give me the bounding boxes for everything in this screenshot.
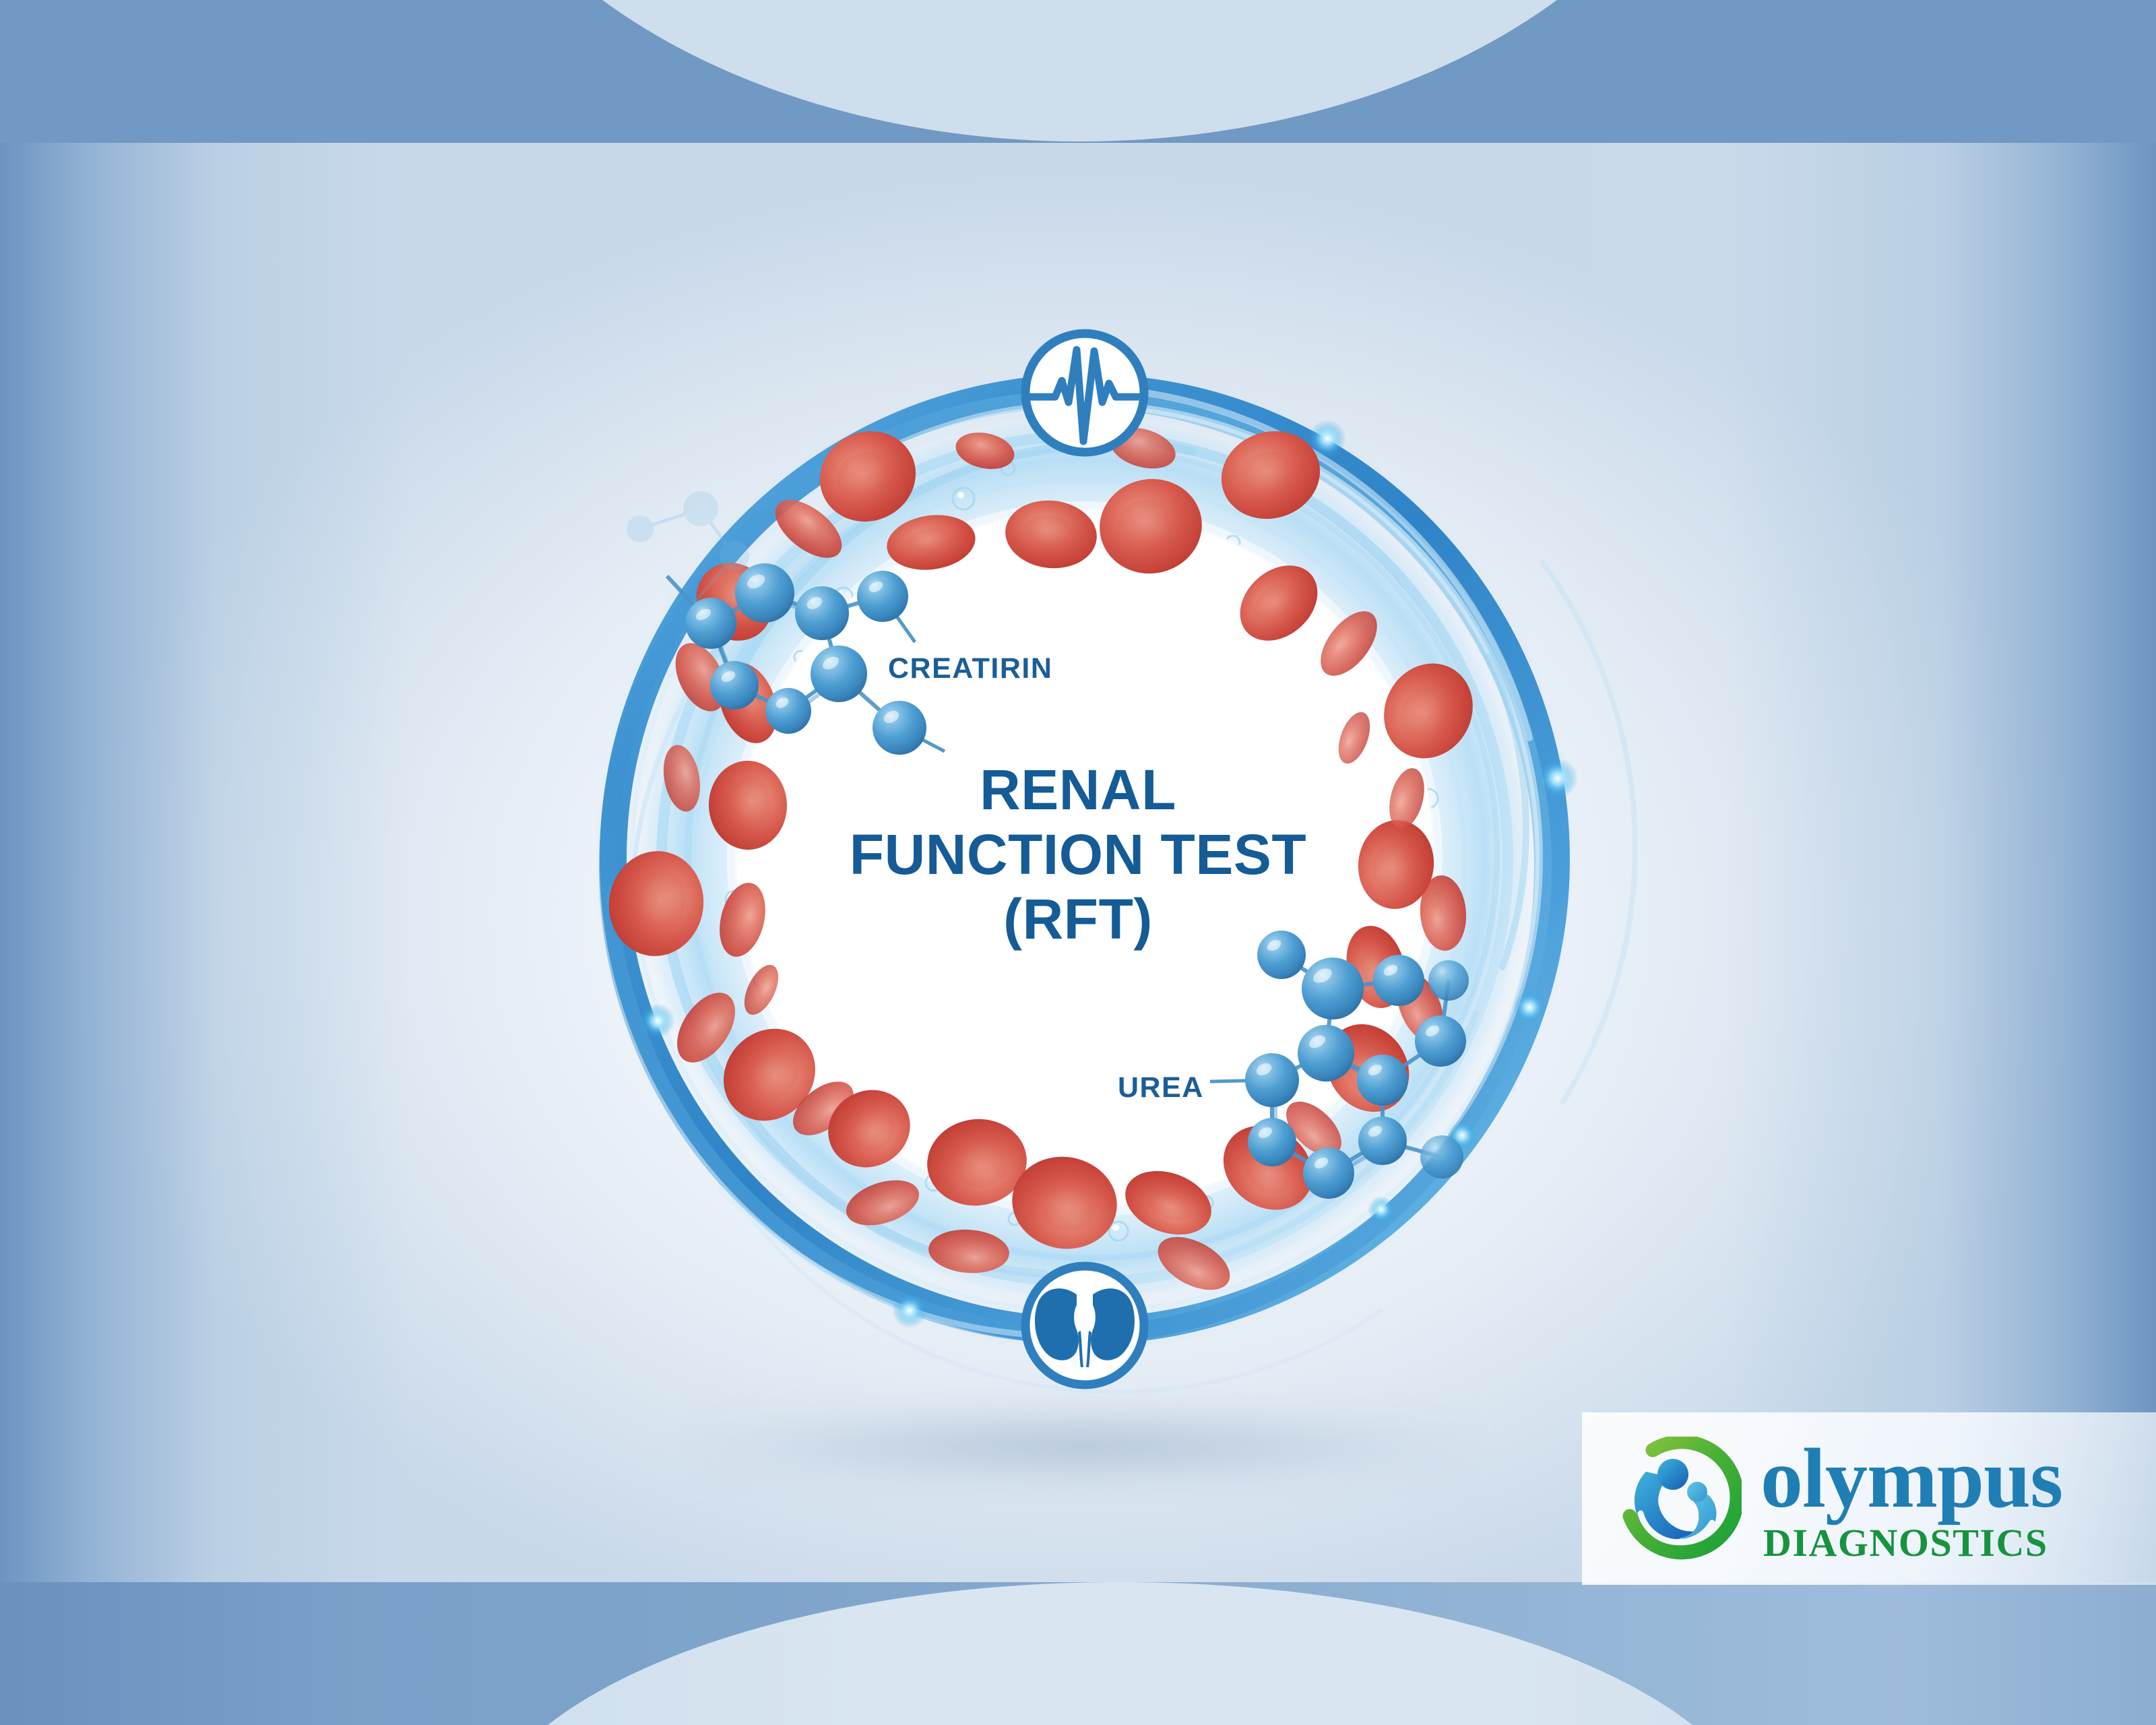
urea-label: UREA	[1118, 1071, 1204, 1104]
page-title: RENAL FUNCTION TEST (RFT)	[738, 758, 1418, 951]
logo-tagline: DIAGNOSTICS	[1763, 1524, 2062, 1563]
heartbeat-badge	[1025, 334, 1144, 452]
circle-ground-shadow	[694, 1405, 1469, 1486]
poster-canvas: RENAL FUNCTION TEST (RFT) CREATIRIN UREA	[0, 0, 2156, 1725]
logo-wordmark: olympus	[1761, 1439, 2062, 1520]
kidney-badge	[1025, 1266, 1144, 1385]
creatirin-label: CREATIRIN	[888, 652, 1052, 685]
logo-text-block: olympus DIAGNOSTICS	[1761, 1439, 2062, 1563]
brand-logo: olympus DIAGNOSTICS	[1614, 1423, 2153, 1578]
background-bottom-vignette	[0, 1582, 2156, 1725]
olympus-logo-mark	[1614, 1437, 1742, 1565]
